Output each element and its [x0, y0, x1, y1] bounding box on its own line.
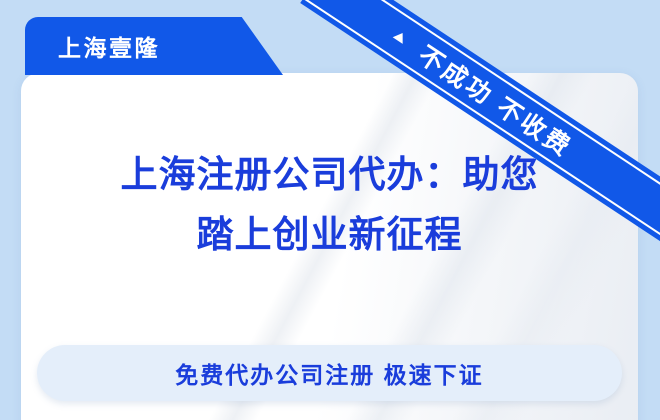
triangle-up-icon [393, 30, 408, 44]
brand-tab: 上海壹隆 [25, 17, 283, 75]
page-title-line-2: 踏上创业新征程 [21, 205, 638, 265]
cta-banner[interactable]: 免费代办公司注册 极速下证 [37, 345, 622, 401]
cta-banner-label: 免费代办公司注册 极速下证 [175, 356, 483, 390]
brand-tab-label: 上海壹隆 [58, 29, 160, 63]
poster-canvas: 上海壹隆 上海注册公司代办：助您 踏上创业新征程 免费代办公司注册 极速下证 不… [0, 0, 660, 420]
